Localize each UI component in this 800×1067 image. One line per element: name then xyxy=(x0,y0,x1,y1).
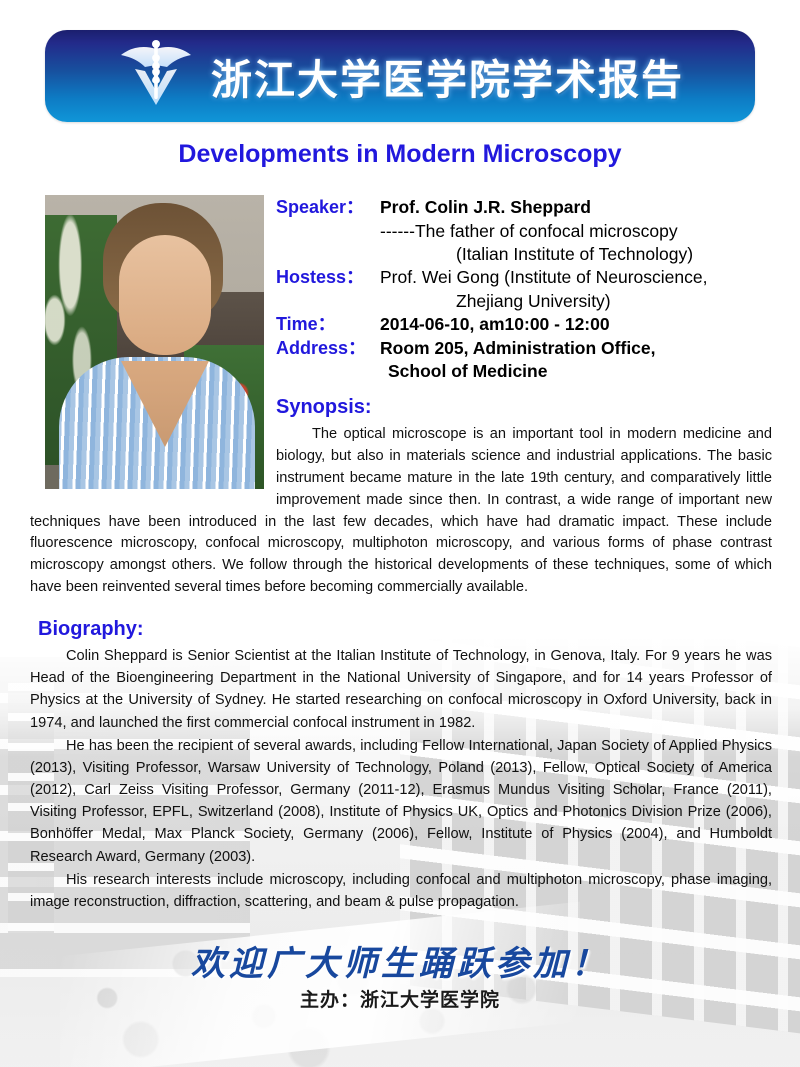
speaker-row: Speaker： Prof. Colin J.R. Sheppard xyxy=(276,196,776,220)
biography-paragraph-3: His research interests include microscop… xyxy=(30,869,772,913)
address-row: Address： Room 205, Administration Office… xyxy=(276,337,776,361)
header-banner: 浙江大学医学院学术报告 xyxy=(45,30,755,122)
biography-paragraph-1: Colin Sheppard is Senior Scientist at th… xyxy=(30,645,772,734)
synopsis-heading: Synopsis: xyxy=(276,396,372,419)
address-value-line2: School of Medicine xyxy=(276,360,776,383)
photo-face xyxy=(119,235,211,355)
synopsis-body: The optical microscope is an important t… xyxy=(30,424,772,599)
address-label: Address： xyxy=(276,337,380,361)
speaker-name: Prof. Colin J.R. Sheppard xyxy=(380,196,776,219)
speaker-label: Speaker： xyxy=(276,196,380,220)
hostess-label: Hostess： xyxy=(276,266,380,290)
poster-root: 浙江大学医学院学术报告 Developments in Modern Micro… xyxy=(0,0,800,1067)
address-value: Room 205, Administration Office, xyxy=(380,337,776,360)
banner-title-cn: 浙江大学医学院学术报告 xyxy=(211,46,684,106)
speaker-subtitle-1: ------The father of confocal microscopy xyxy=(276,220,776,243)
biography-heading: Biography: xyxy=(38,618,144,641)
event-info: Speaker： Prof. Colin J.R. Sheppard -----… xyxy=(276,196,776,383)
speaker-affiliation: (Italian Institute of Technology) xyxy=(276,243,776,266)
time-value: 2014-06-10, am10:00 - 12:00 xyxy=(380,313,776,336)
biography-paragraph-2: He has been the recipient of several awa… xyxy=(30,735,772,868)
time-row: Time： 2014-06-10, am10:00 - 12:00 xyxy=(276,313,776,337)
organizer-cn: 主办：浙江大学医学院 xyxy=(0,985,800,1012)
hostess-name: Prof. Wei Gong (Institute of Neuroscienc… xyxy=(380,266,776,289)
photo-text-wrap-spacer xyxy=(30,424,276,492)
page-title: Developments in Modern Microscopy xyxy=(0,140,800,169)
caduceus-icon xyxy=(113,35,199,117)
time-label: Time： xyxy=(276,313,380,337)
welcome-message-cn: 欢迎广大师生踊跃参加！ xyxy=(0,936,800,985)
biography-body: Colin Sheppard is Senior Scientist at th… xyxy=(30,645,772,914)
hostess-row: Hostess： Prof. Wei Gong (Institute of Ne… xyxy=(276,266,776,290)
hostess-affiliation: Zhejiang University) xyxy=(276,290,776,313)
